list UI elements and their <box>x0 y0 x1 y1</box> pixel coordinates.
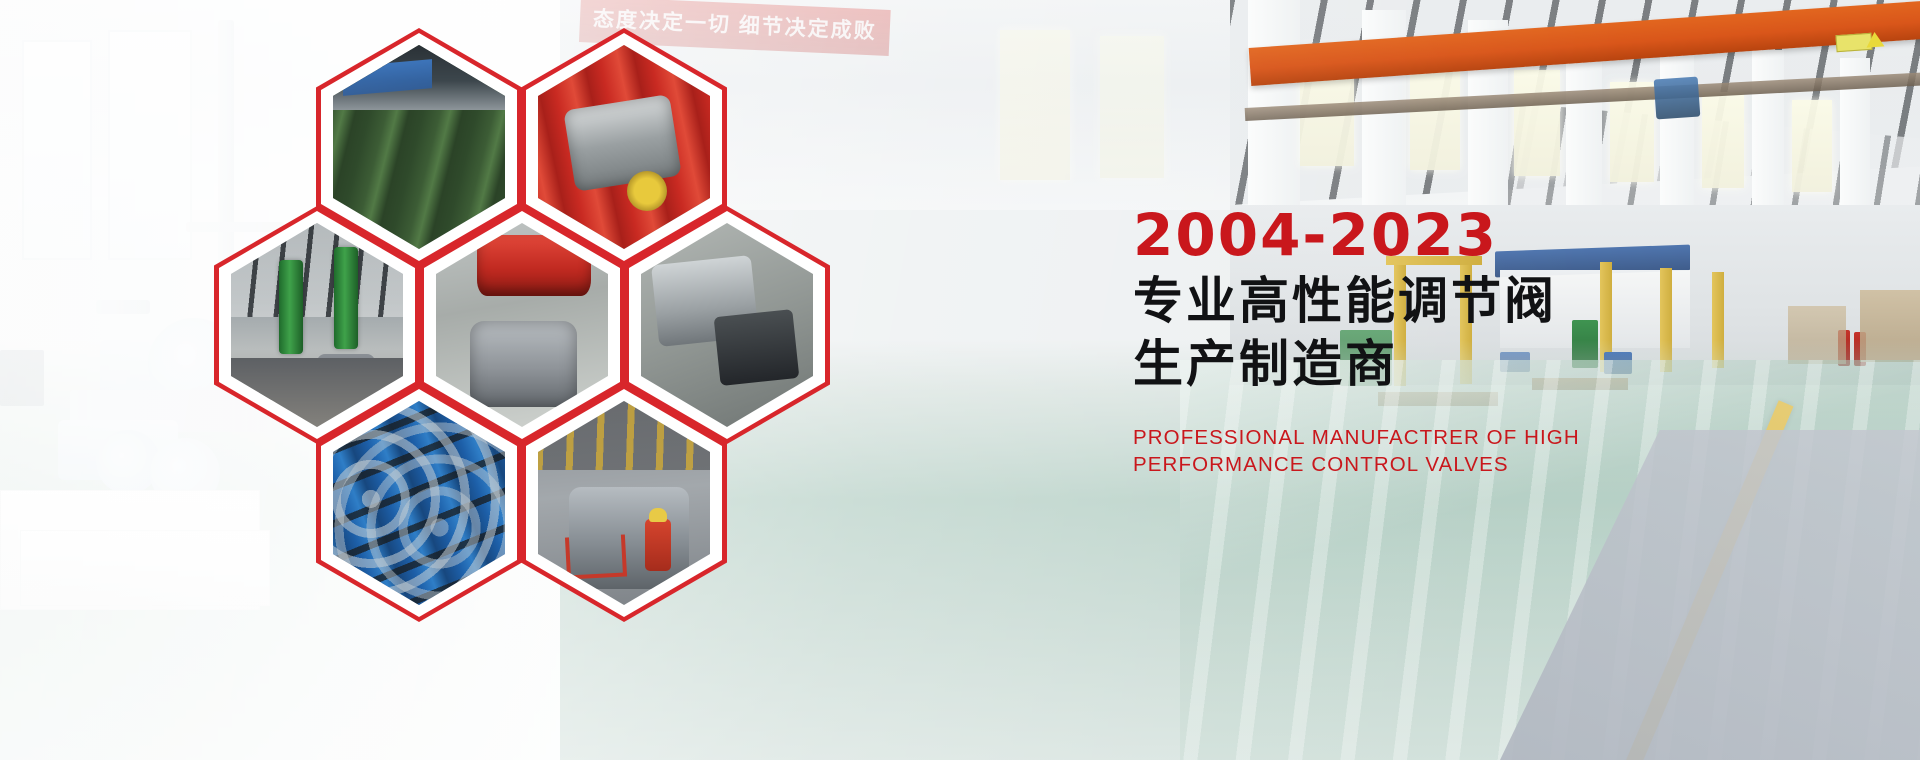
wall-window <box>1514 70 1560 176</box>
valve-body <box>317 354 375 396</box>
wall-window <box>1100 36 1164 178</box>
hex-photo-clip <box>333 401 505 605</box>
headline-text-block: 2004-2023 专业高性能调节阀 生产制造商 PROFESSIONAL MA… <box>1133 205 1773 478</box>
red-support-stand <box>564 534 626 579</box>
photo-red-pneumatic-actuators <box>538 45 710 249</box>
green-actuator-stem <box>334 247 358 349</box>
hex-photo-clip <box>538 45 710 249</box>
wall-window <box>1410 58 1460 170</box>
photo-green-valve-bonnets <box>333 45 505 249</box>
photo-large-valve-assembly <box>538 401 710 605</box>
photo-workshop-globe-valves <box>231 223 403 427</box>
hex-photo-clip <box>641 223 813 427</box>
wall-window <box>1000 30 1070 180</box>
subtitle-english-line-2: PERFORMANCE CONTROL VALVES <box>1133 451 1773 478</box>
headline-years: 2004-2023 <box>1133 205 1773 266</box>
photo-blue-butterfly-valves <box>333 401 505 605</box>
wall-window <box>1792 100 1832 192</box>
banner-stage: 态度决定一切 细节决定成败 <box>0 0 1920 760</box>
hex-photo-clip <box>538 401 710 605</box>
wall-window <box>1702 92 1744 188</box>
headline-chinese-line-2: 生产制造商 <box>1133 333 1773 396</box>
worker-figure <box>645 519 671 571</box>
subtitle-english-line-1: PROFESSIONAL MANUFACTRER OF HIGH <box>1133 424 1773 451</box>
photo-ball-valve-red-actuator <box>436 223 608 427</box>
crane-hoist <box>1654 77 1701 120</box>
hex-photo-clip <box>436 223 608 427</box>
warning-triangle-icon <box>1865 31 1884 47</box>
green-actuator-stem <box>279 260 303 354</box>
hex-photo-clip <box>333 45 505 249</box>
subtitle-english: PROFESSIONAL MANUFACTRER OF HIGH PERFORM… <box>1133 424 1773 478</box>
headline-chinese-line-1: 专业高性能调节阀 <box>1133 270 1773 333</box>
valve-body <box>259 358 317 400</box>
photo-valve-positioner <box>641 223 813 427</box>
hexagon-photo-cluster <box>0 0 900 760</box>
hex-photo-clip <box>231 223 403 427</box>
